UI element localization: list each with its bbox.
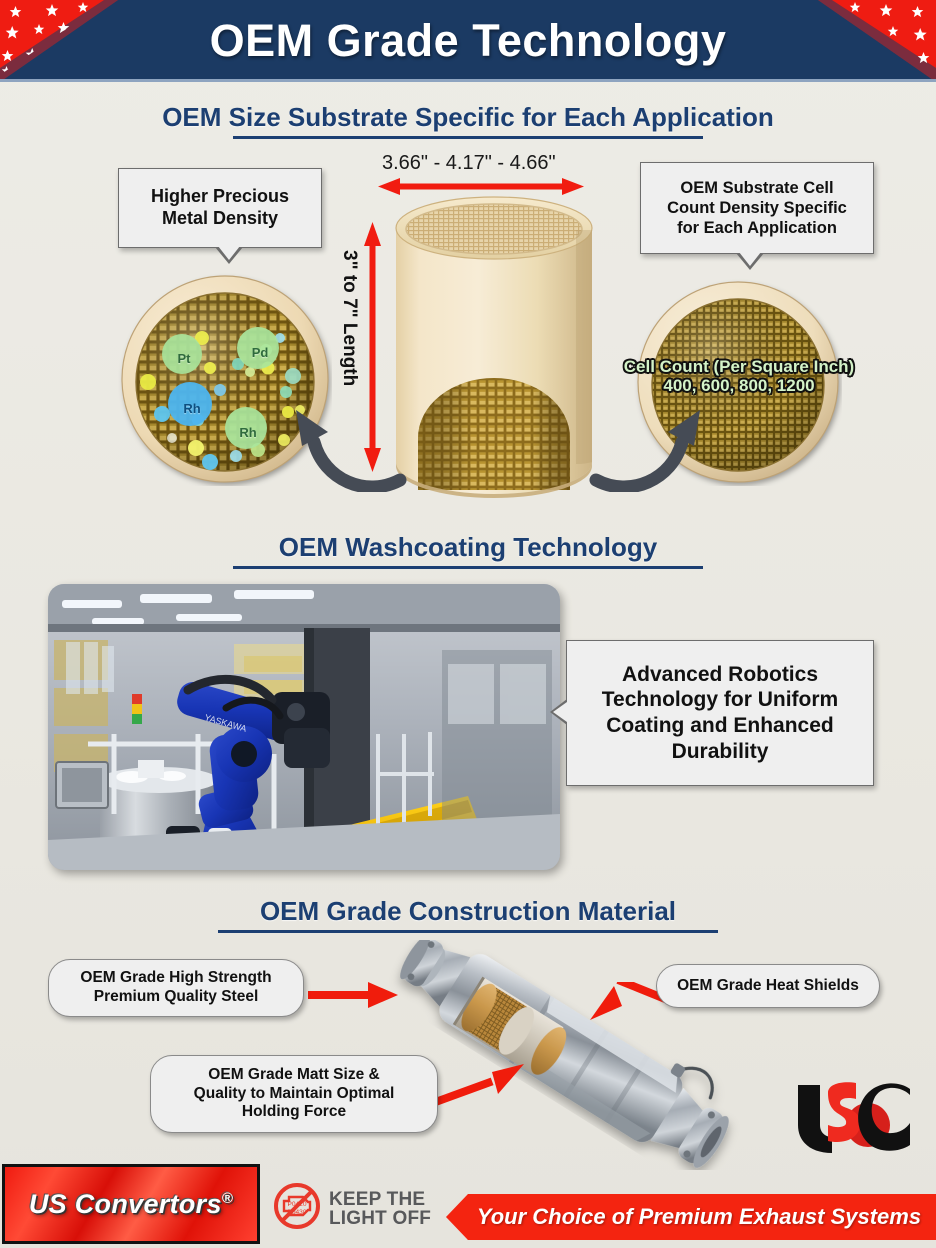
callout-oem-substrate-cell-count: OEM Substrate Cell Count Density Specifi… (640, 162, 874, 254)
callout-line: Durability (602, 739, 838, 765)
metal-label-rh-blue: Rh (172, 388, 212, 428)
substrate-width-label: 3.66" - 4.17" - 4.66" (382, 152, 556, 175)
callout-line: OEM Grade Heat Shields (677, 977, 859, 996)
page-header: OEM Grade Technology (0, 0, 936, 82)
no-check-engine-light-icon: P0420 P0430 (272, 1181, 322, 1236)
callout-line: Higher Precious (151, 186, 289, 208)
page-footer: US Convertors® P0420 P0430 KEEP THE LIGH… (0, 1160, 936, 1248)
header-bottom-rule (0, 79, 936, 82)
section-rule-substrate (233, 136, 703, 139)
callout-tail-fill (553, 702, 567, 722)
callout-line: Metal Density (151, 208, 289, 230)
metal-label-rh-green: Rh (228, 412, 268, 452)
infographic-page: OEM Grade Technology (0, 0, 936, 1248)
keep-the-light-off-text: KEEP THE LIGHT OFF (329, 1190, 431, 1228)
callout-line: Count Density Specific (667, 198, 847, 218)
callout-line: Premium Quality Steel (80, 988, 271, 1007)
keep-the-light-off-badge: P0420 P0430 KEEP THE LIGHT OFF (272, 1181, 431, 1236)
section-title-substrate: OEM Size Substrate Specific for Each App… (0, 102, 936, 133)
callout-tail-fill (739, 252, 761, 266)
callout-higher-precious-metal-density: Higher Precious Metal Density (118, 168, 322, 248)
callout-high-strength-steel: OEM Grade High Strength Premium Quality … (48, 959, 304, 1017)
callout-heat-shields: OEM Grade Heat Shields (656, 964, 880, 1008)
page-title: OEM Grade Technology (0, 0, 936, 82)
substrate-cylinder (388, 190, 600, 500)
callout-line: for Each Application (667, 218, 847, 238)
cell-count-line1: Cell Count (Per Square Inch) (574, 357, 904, 376)
cell-count-line2: 400, 600, 800, 1200 (574, 376, 904, 395)
callout-line: Holding Force (194, 1103, 395, 1122)
section-title-construction: OEM Grade Construction Material (0, 896, 936, 927)
callout-line: Quality to Maintain Optimal (194, 1085, 395, 1104)
substrate-length-label: 3" to 7" Length (338, 250, 360, 386)
callout-line: Advanced Robotics (602, 662, 838, 688)
callout-matt-size-quality: OEM Grade Matt Size & Quality to Maintai… (150, 1055, 438, 1133)
registered-mark: ® (222, 1190, 233, 1207)
section-rule-washcoating (233, 566, 703, 569)
curved-arrow-left-icon (288, 402, 408, 497)
section-rule-construction (218, 930, 718, 933)
keep-light-line1: KEEP THE (329, 1190, 431, 1209)
callout-line: Coating and Enhanced (602, 713, 838, 739)
curved-arrow-right-icon (588, 402, 708, 497)
callout-line: OEM Grade High Strength (80, 969, 271, 988)
metal-label-pt: Pt (164, 338, 204, 378)
us-convertors-label: US Convertors® (29, 1189, 233, 1220)
washcoating-photo: YASKAWA (48, 584, 560, 870)
tagline-text: Your Choice of Premium Exhaust Systems (461, 1204, 921, 1230)
callout-tail-fill (218, 246, 240, 260)
callout-line: OEM Substrate Cell (667, 178, 847, 198)
section-title-washcoating: OEM Washcoating Technology (0, 532, 936, 563)
tagline-banner: Your Choice of Premium Exhaust Systems (446, 1194, 936, 1240)
callout-line: Technology for Uniform (602, 687, 838, 713)
keep-light-line2: LIGHT OFF (329, 1209, 431, 1228)
cell-count-text: Cell Count (Per Square Inch) 400, 600, 8… (574, 357, 904, 395)
arrow-to-steel-icon (308, 982, 398, 1013)
metal-label-pd: Pd (240, 332, 280, 372)
usc-logo (794, 1081, 914, 1162)
us-convertors-logo: US Convertors® (2, 1164, 260, 1244)
callout-line: OEM Grade Matt Size & (194, 1066, 395, 1085)
callout-advanced-robotics: Advanced Robotics Technology for Uniform… (566, 640, 874, 786)
arrow-to-matt-icon (432, 1062, 524, 1111)
